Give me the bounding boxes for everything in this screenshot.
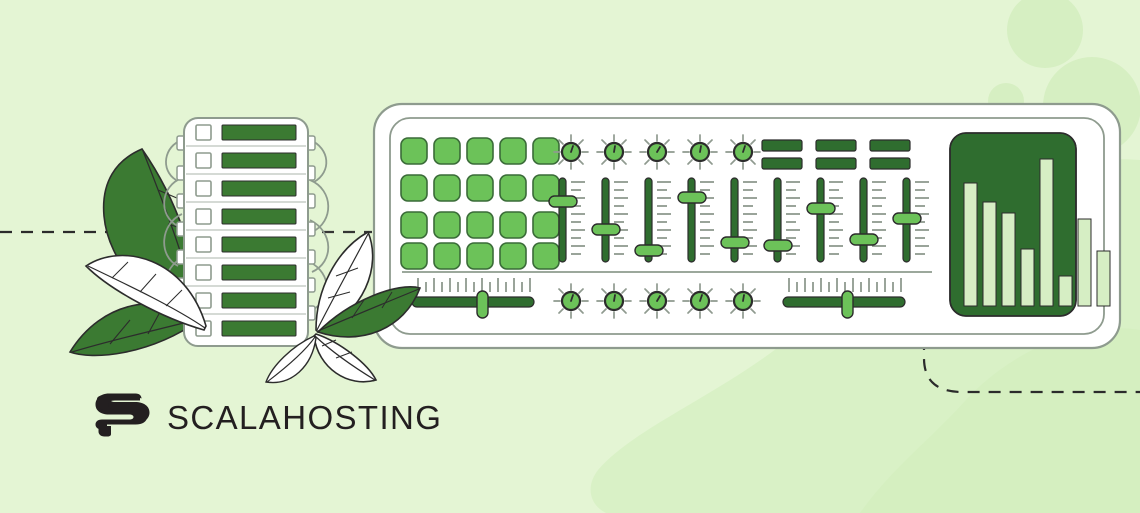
leaf-cluster-right	[266, 232, 420, 383]
leaf-cluster-left-front	[86, 256, 206, 330]
scalahosting-s-logo-icon	[93, 392, 153, 442]
leaf-white-left	[86, 256, 206, 330]
brand-wordmark: SCALAHOSTING	[167, 401, 442, 434]
illustration-stage: SCALAHOSTING	[0, 0, 1140, 513]
brand-lockup: SCALAHOSTING	[93, 392, 442, 442]
leaf-white-small	[266, 336, 316, 383]
logo-glyph-inner	[97, 395, 147, 435]
